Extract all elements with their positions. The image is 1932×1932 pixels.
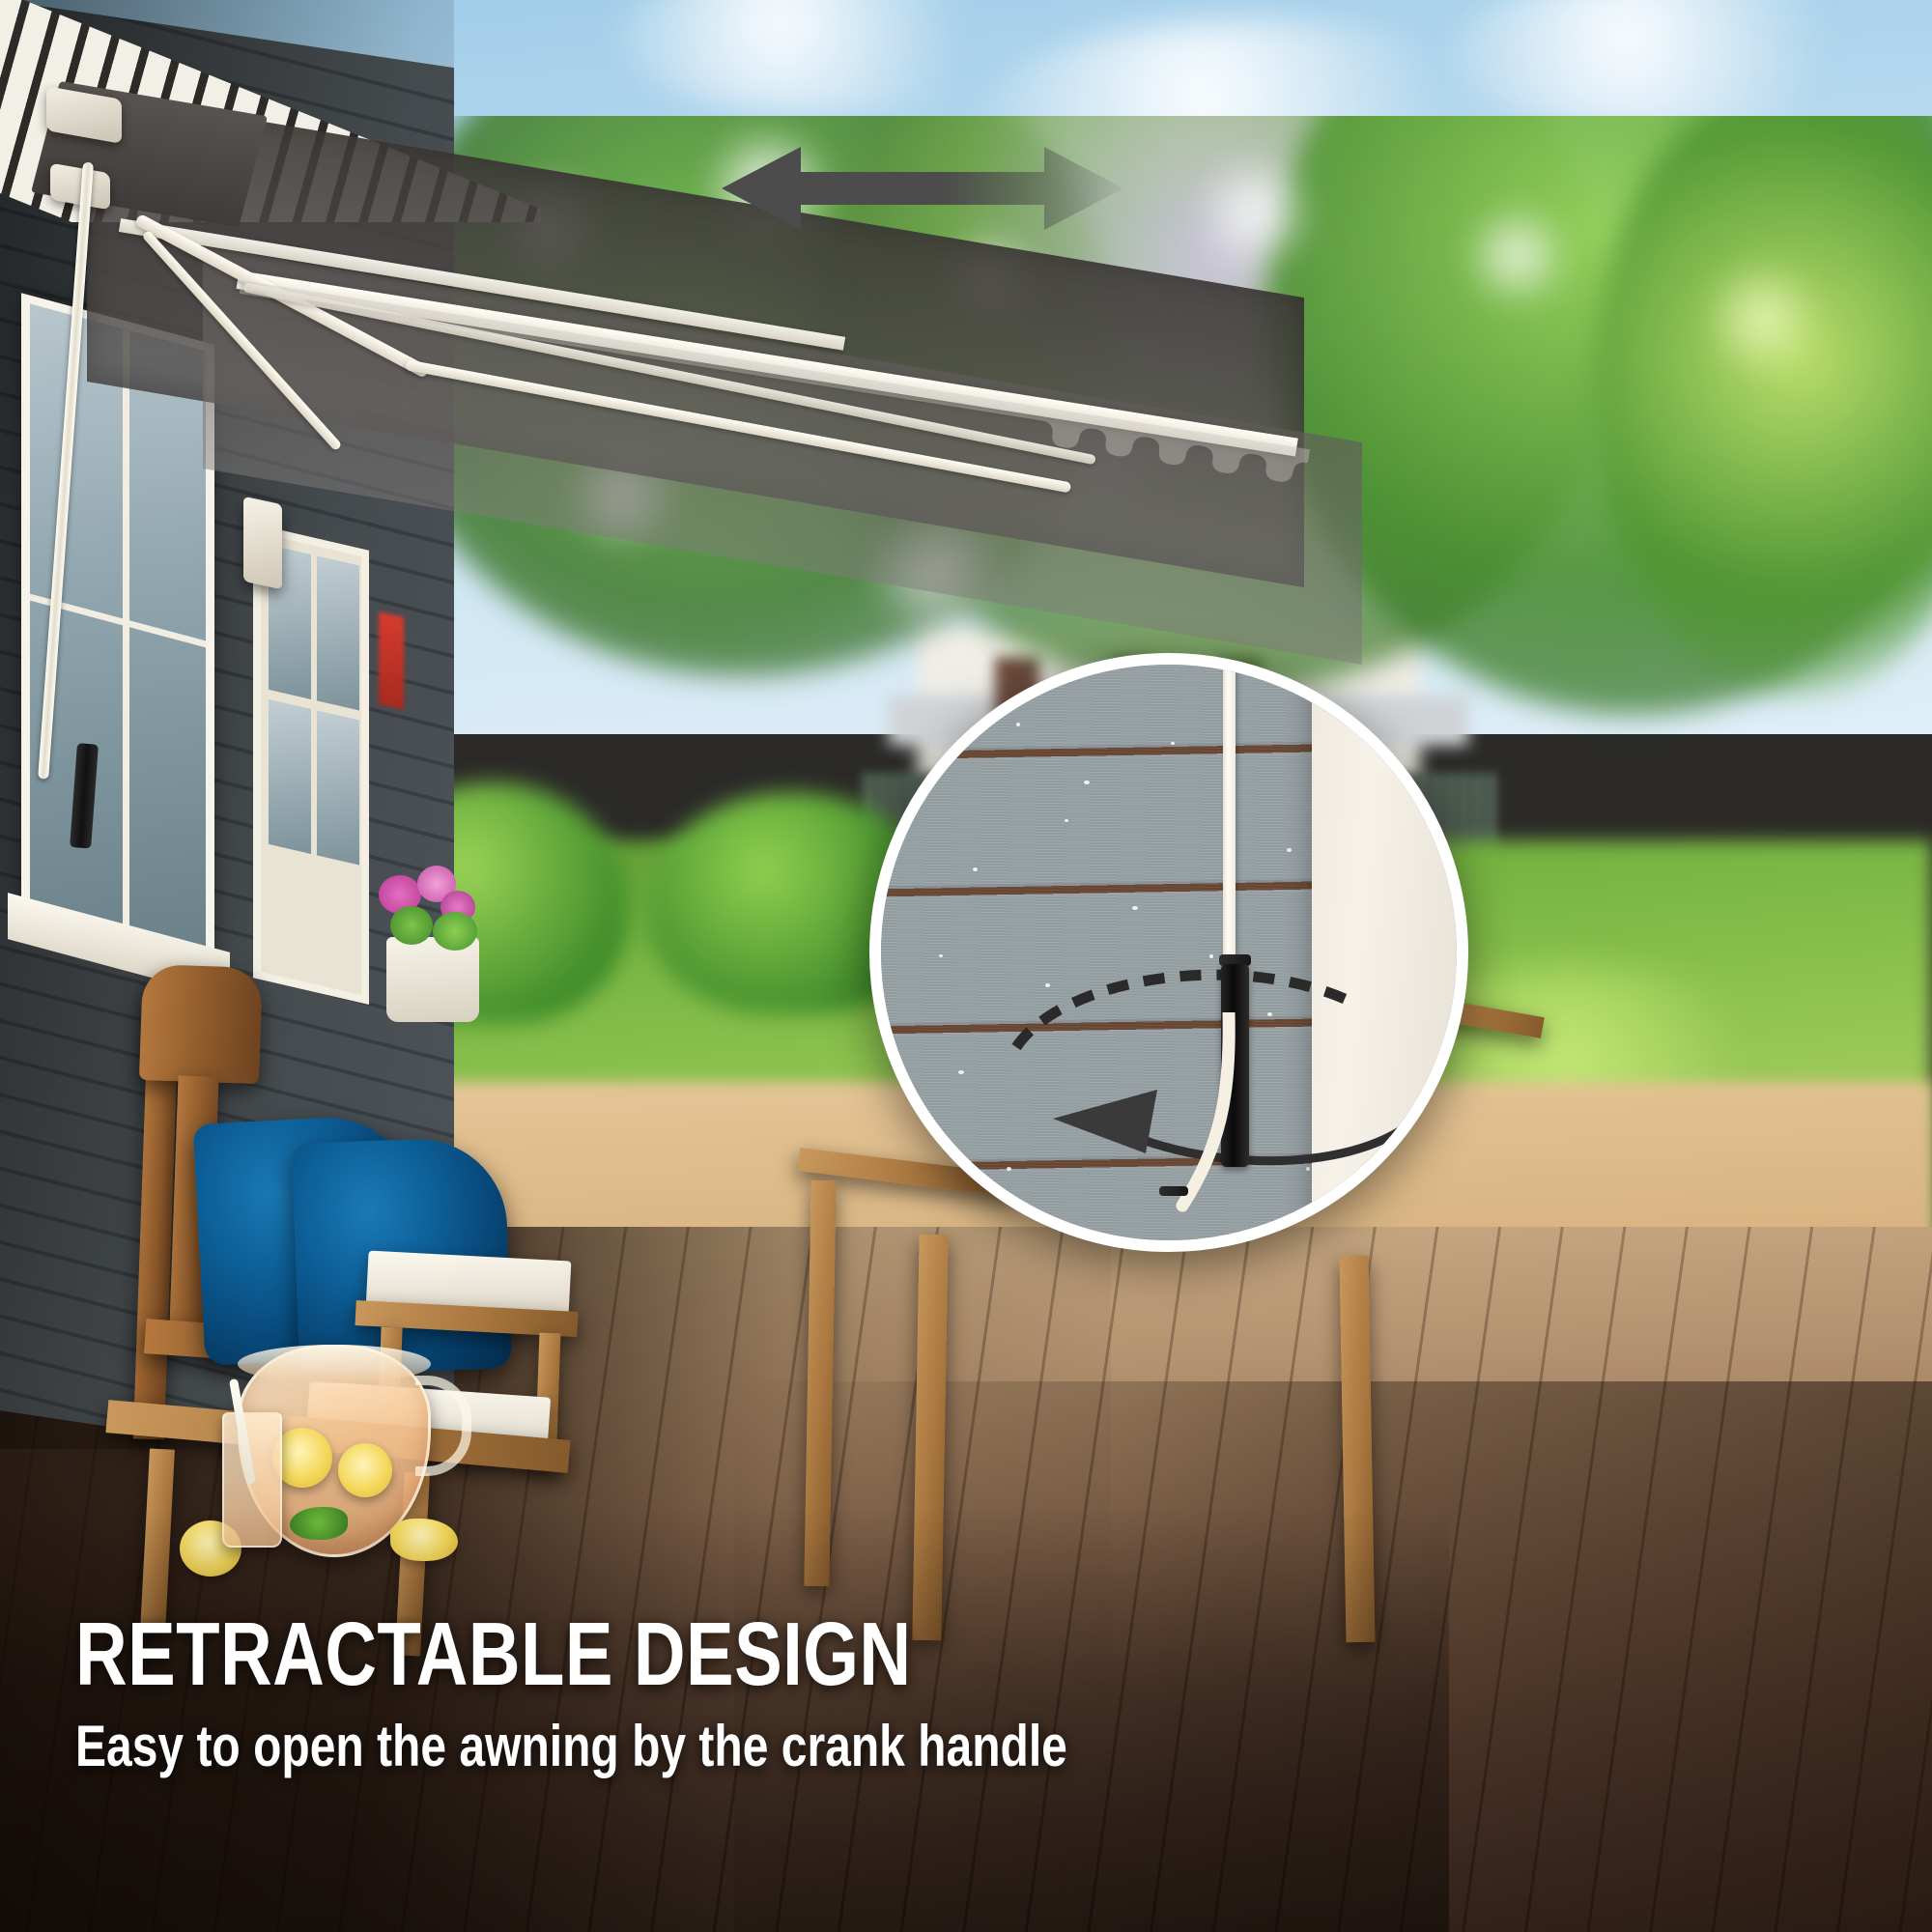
foliage xyxy=(433,912,477,951)
foliage xyxy=(390,906,433,945)
chair-crest-rail xyxy=(139,964,263,1084)
closeup-crank-end-cap xyxy=(1159,1186,1188,1196)
page-title: RETRACTABLE DESIGN xyxy=(75,1607,1157,1700)
lemon-wedge xyxy=(390,1519,458,1561)
retractable-awning xyxy=(0,0,1932,734)
text-overlay: RETRACTABLE DESIGN Easy to open the awni… xyxy=(75,1607,1428,1777)
pitcher-rim xyxy=(238,1345,431,1383)
crank-rod[interactable] xyxy=(38,162,94,780)
page-subtitle: Easy to open the awning by the crank han… xyxy=(75,1716,1157,1777)
double-arrow-shape xyxy=(722,147,1123,230)
crank-handle-closeup-inset xyxy=(869,653,1468,1252)
closeup-crank-rod-curve xyxy=(1122,1012,1316,1252)
crank-rod-curve-path xyxy=(1182,1012,1229,1206)
mint-leaves xyxy=(290,1507,348,1540)
closeup-crank-rod[interactable] xyxy=(1223,653,1236,983)
lemon-slice xyxy=(338,1443,392,1497)
flower-planter xyxy=(386,937,479,1022)
extension-arrow-icon xyxy=(720,135,1125,246)
product-marketing-image: RETRACTABLE DESIGN Easy to open the awni… xyxy=(0,0,1932,1932)
